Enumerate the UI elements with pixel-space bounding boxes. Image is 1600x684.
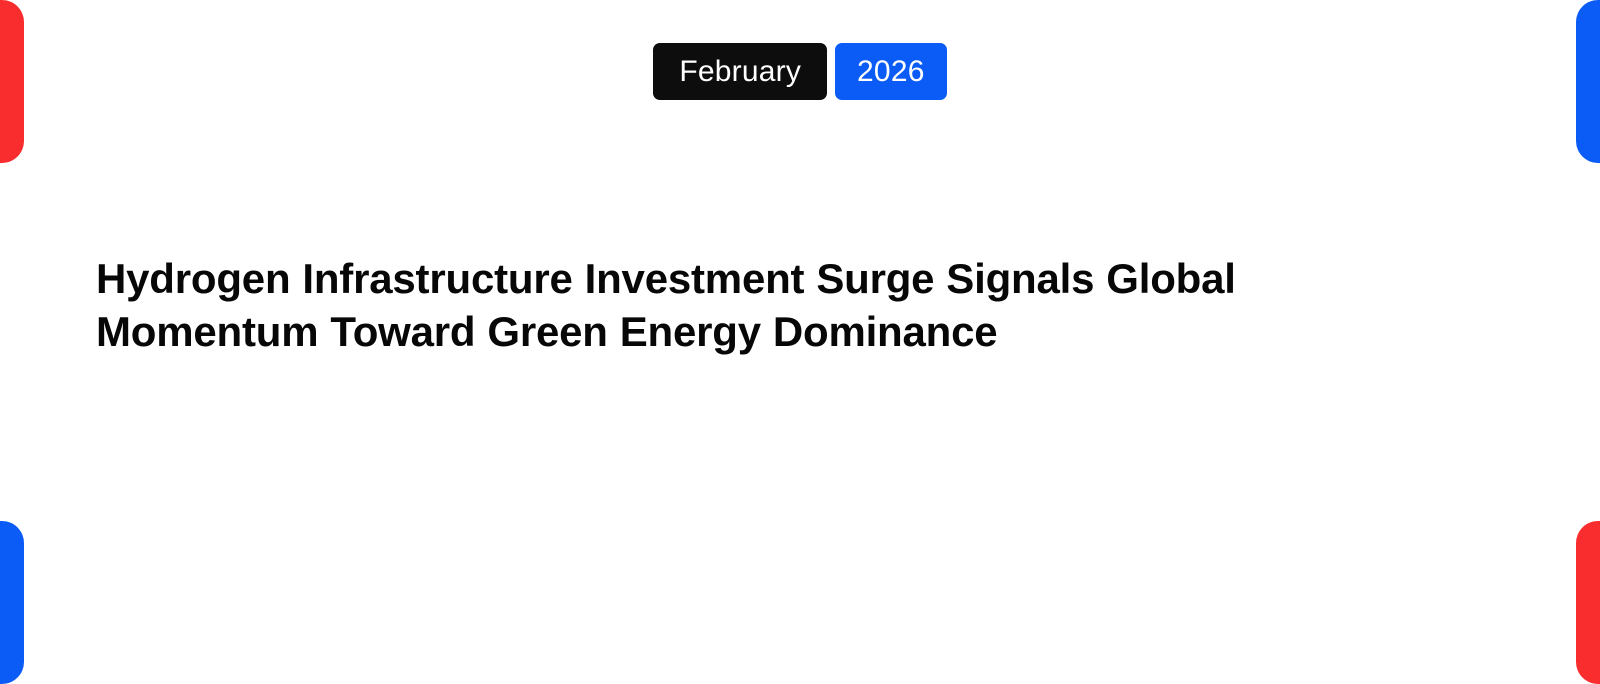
headline-card: February 2026 Hydrogen Infrastructure In… xyxy=(0,0,1600,684)
page-title: Hydrogen Infrastructure Investment Surge… xyxy=(96,252,1356,358)
accent-bar-bottom-left xyxy=(0,521,24,684)
accent-bar-bottom-right xyxy=(1576,521,1600,684)
month-badge: February xyxy=(653,43,827,100)
year-badge: 2026 xyxy=(835,43,947,100)
date-header: February 2026 xyxy=(0,43,1600,100)
headline-container: Hydrogen Infrastructure Investment Surge… xyxy=(96,252,1356,358)
